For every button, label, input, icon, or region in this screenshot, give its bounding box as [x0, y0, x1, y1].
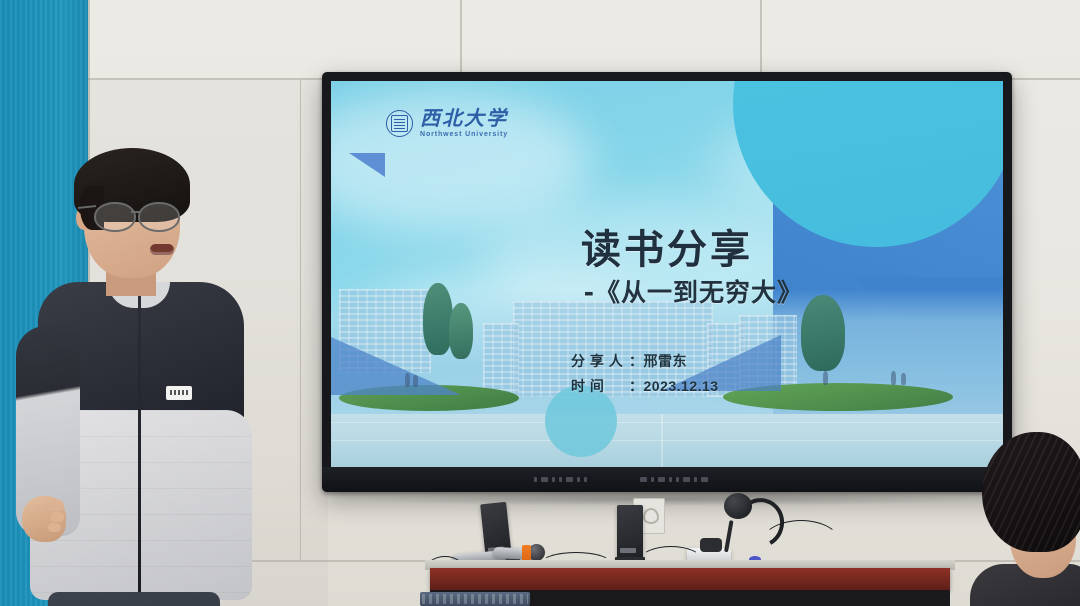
meta-label-date: 时 间: [571, 374, 629, 399]
slide-meta-row-date: 时 间：2023.12.13: [571, 374, 719, 399]
wall-seam: [460, 0, 462, 78]
campus-building-wing: [483, 323, 519, 397]
campus-person: [823, 371, 828, 385]
eyeglasses-bridge: [131, 211, 140, 213]
keyboard[interactable]: [420, 592, 530, 606]
meta-value-date: 2023.12.13: [644, 378, 719, 394]
pavement-line: [331, 422, 1003, 424]
campus-person: [413, 375, 418, 387]
wall-seam: [760, 0, 762, 78]
wall-seam: [300, 80, 301, 560]
slide-meta-block: 分 享 人：邢雷东 时 间：2023.12.13: [571, 349, 719, 399]
finger: [48, 523, 61, 532]
presenter-left-hand: [22, 496, 66, 542]
campus-plaza-ground: [331, 414, 1003, 467]
presenter-torso: [16, 282, 254, 606]
gooseneck-microphone-head: [724, 493, 752, 519]
display-bezel-chin: [322, 467, 1012, 492]
pavement-line: [331, 440, 1003, 442]
display-control-buttons[interactable]: [640, 476, 708, 482]
university-name-cn: 西北大学: [420, 109, 508, 129]
seated-attendee: [970, 432, 1080, 606]
presentation-slide: 西北大学 Northwest University 读书分享 -《从一到无穷大》…: [331, 81, 1003, 467]
campus-person: [901, 373, 906, 385]
jacket-zipper: [138, 288, 141, 600]
meta-label-presenter: 分 享 人: [571, 349, 629, 374]
meta-value-presenter: 邢雷东: [644, 353, 688, 369]
presenter-trousers: [48, 592, 220, 606]
display-shadow: [330, 492, 1006, 506]
display-screen: 西北大学 Northwest University 读书分享 -《从一到无穷大》…: [331, 81, 1003, 467]
campus-tree: [801, 295, 845, 371]
classroom-presentation-photo: 西北大学 Northwest University 读书分享 -《从一到无穷大》…: [0, 0, 1080, 606]
slide-subtitle: -《从一到无穷大》: [584, 273, 803, 309]
university-seal-icon: [386, 110, 413, 137]
eyeglasses-right-lens: [138, 202, 180, 232]
finger: [50, 512, 64, 522]
presenter: [10, 140, 260, 606]
right-speaker: [617, 505, 643, 560]
slide-title: 读书分享: [581, 217, 753, 275]
wall-mounted-flat-panel-display[interactable]: 西北大学 Northwest University 读书分享 -《从一到无穷大》…: [322, 72, 1012, 492]
jacket-chest-logo: [166, 386, 192, 400]
presenter-mouth: [150, 244, 174, 255]
slide-triangle-left: [349, 153, 385, 177]
campus-person: [891, 371, 896, 385]
university-logo: 西北大学 Northwest University: [386, 109, 508, 138]
eyeglasses-left-lens: [94, 202, 136, 232]
seated-attendee-hair: [982, 432, 1080, 552]
document-camera-head: [700, 538, 722, 552]
meta-sep: ：: [629, 378, 644, 394]
meta-sep: ：: [629, 353, 644, 369]
finger: [48, 500, 64, 511]
slide-meta-row-presenter: 分 享 人：邢雷东: [571, 349, 719, 374]
pavement-line: [661, 414, 663, 467]
podium: [430, 568, 950, 590]
campus-overlay-triangle: [331, 337, 461, 395]
campus-person: [405, 373, 410, 387]
university-name-en: Northwest University: [420, 131, 508, 138]
display-brand-mark: [534, 476, 587, 482]
